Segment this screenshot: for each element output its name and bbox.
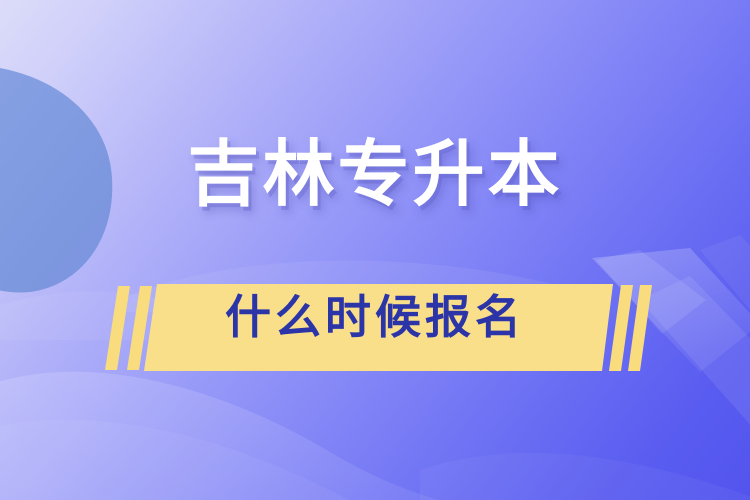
- teardrop-blob-icon: [0, 65, 112, 293]
- promo-banner: 吉林专升本 什么时候报名: [0, 0, 750, 500]
- lower-waves-icon: [0, 372, 750, 500]
- decorative-shapes: [0, 0, 750, 500]
- ribbon-backdrop-curve-icon: [120, 261, 560, 312]
